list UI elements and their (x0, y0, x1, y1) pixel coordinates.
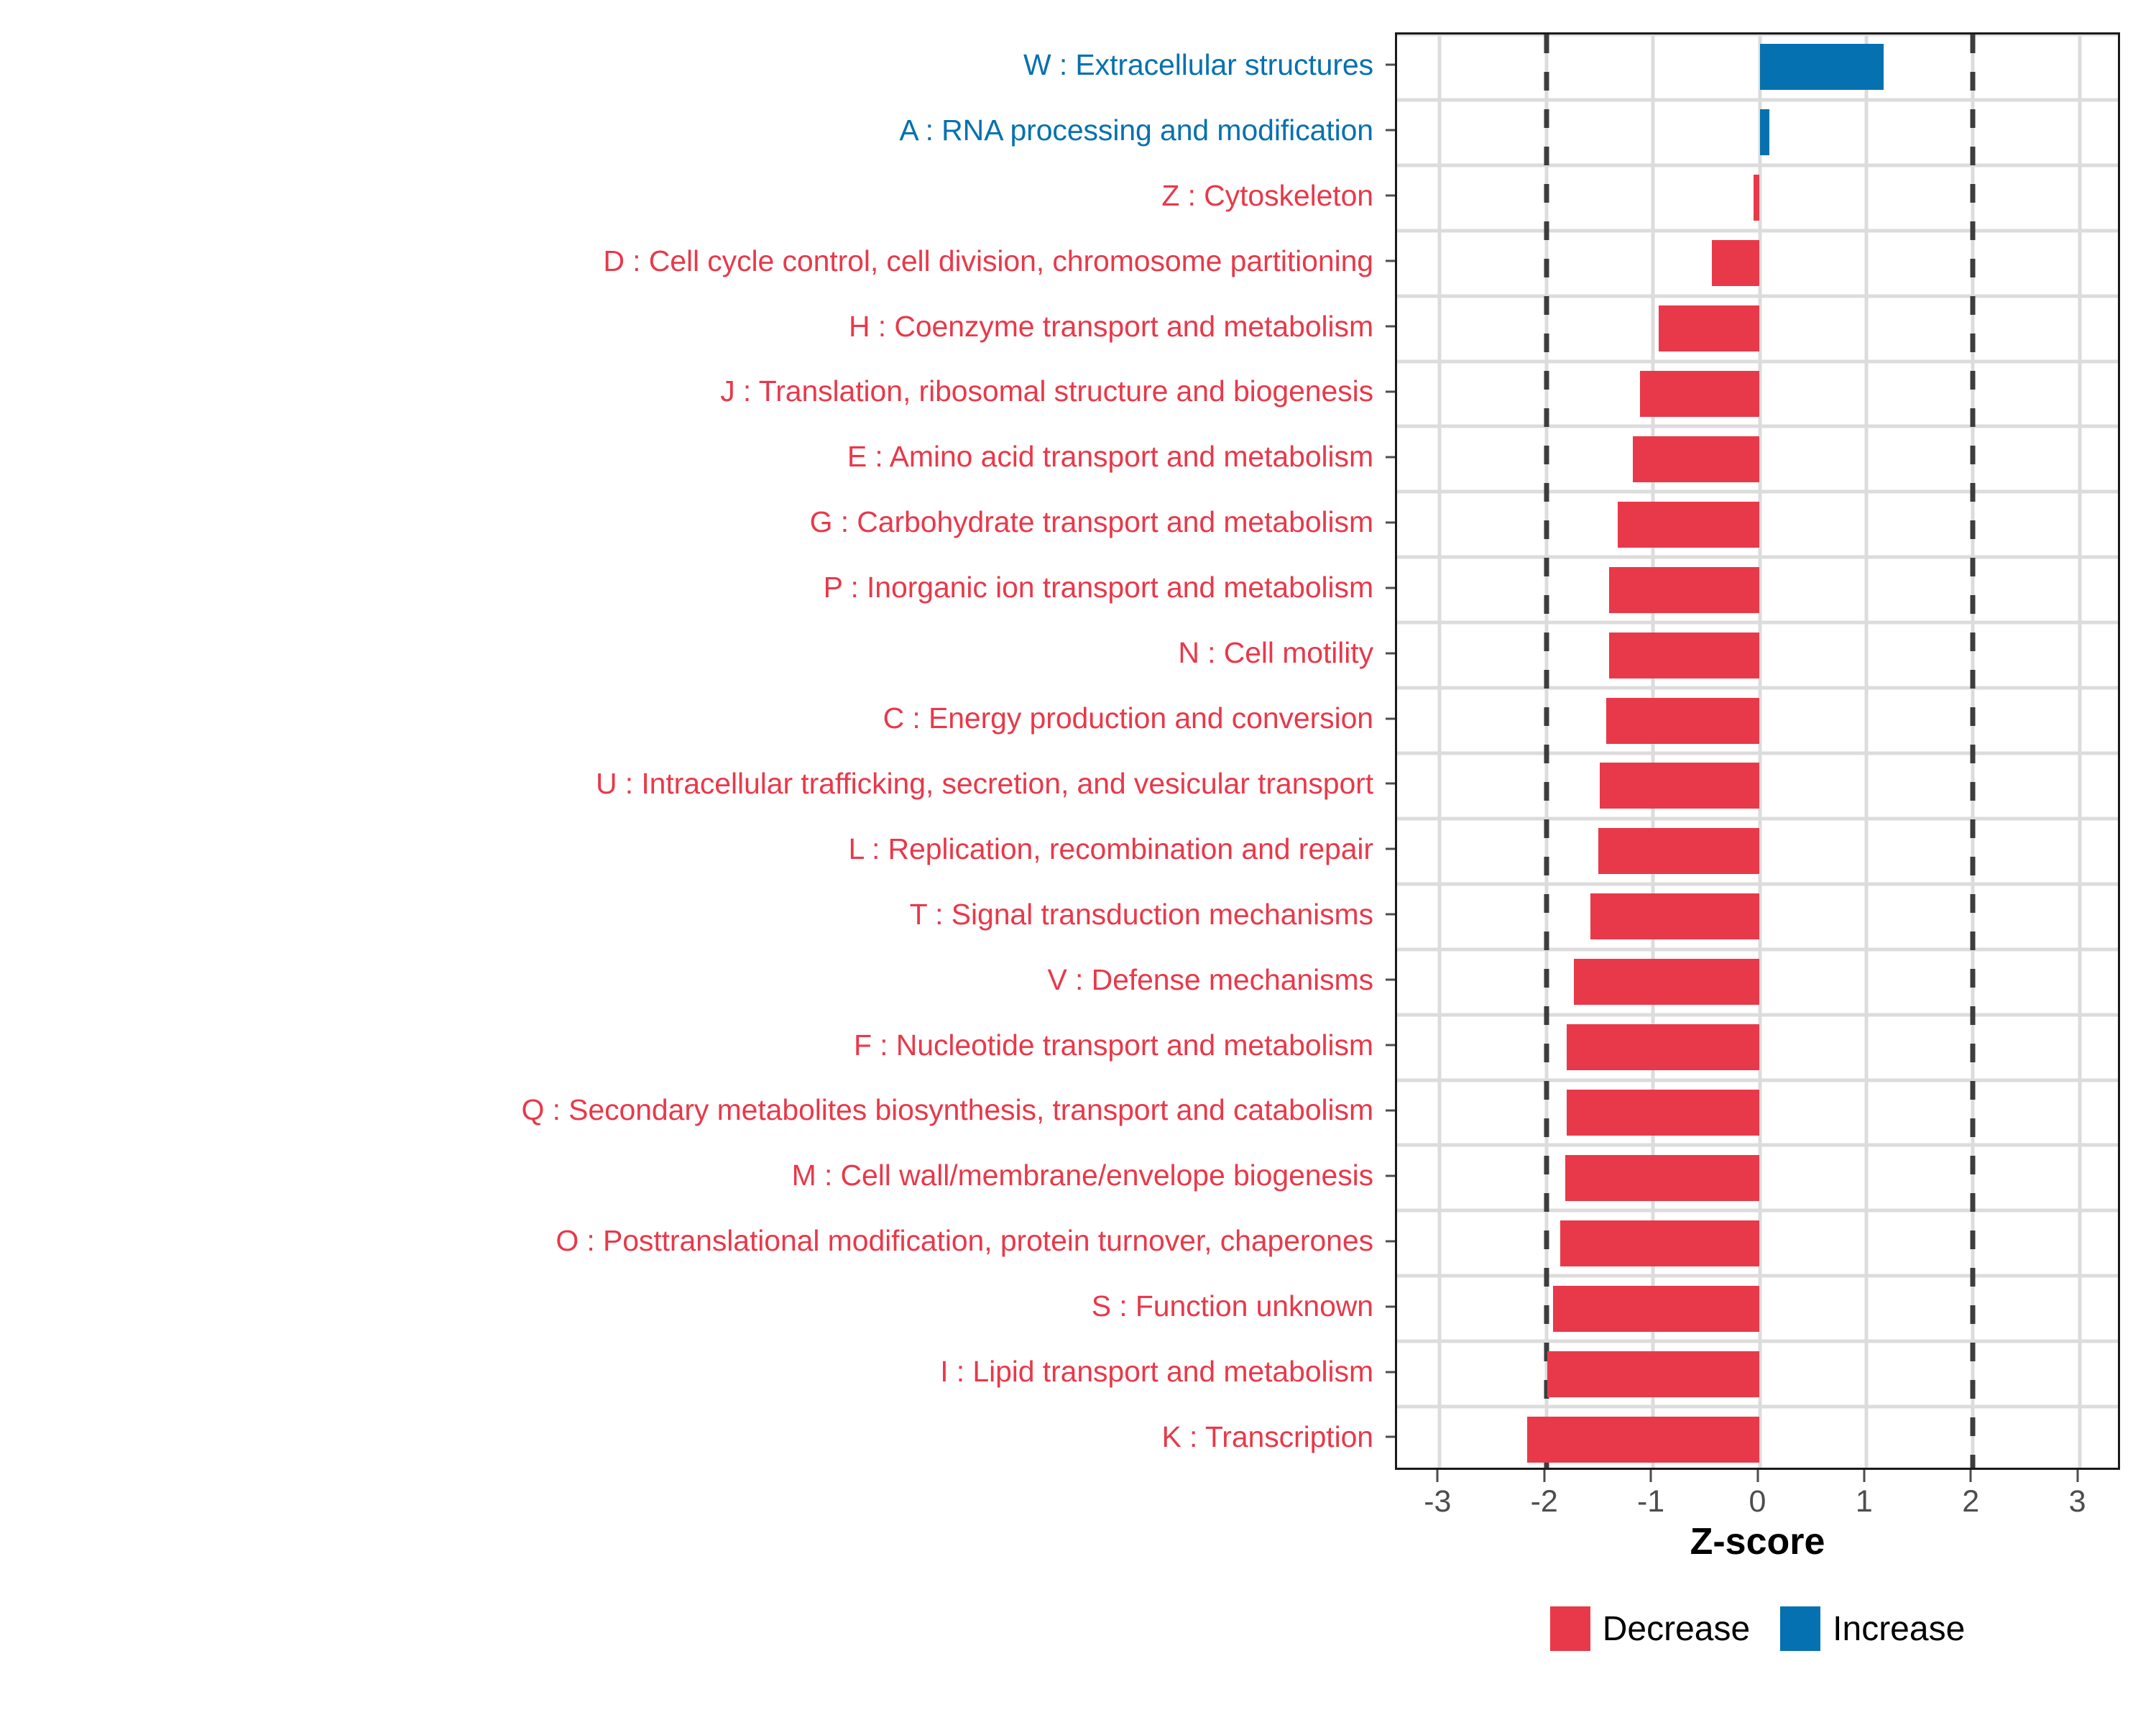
bar[interactable] (1609, 567, 1759, 613)
gridline-horizontal (1397, 1078, 2118, 1082)
category-label: N : Cell motility (0, 620, 1383, 686)
legend-label: Increase (1833, 1609, 1965, 1649)
y-axis-tick (1383, 1013, 1395, 1078)
category-label: W : Extracellular structures (0, 32, 1383, 98)
plot-panel-inner (1397, 34, 2118, 1468)
bar[interactable] (1590, 893, 1760, 939)
gridline-horizontal (1397, 294, 2118, 298)
gridline-horizontal (1397, 1274, 2118, 1278)
bar[interactable] (1640, 371, 1759, 417)
x-axis-tick-label: 2 (1962, 1484, 1979, 1519)
y-axis-tick-column (1383, 32, 1395, 1470)
gridline-horizontal (1397, 425, 2118, 428)
bar[interactable] (1574, 959, 1759, 1005)
category-label: O : Posttranslational modification, prot… (0, 1208, 1383, 1274)
y-axis-tick (1383, 163, 1395, 229)
gridline-horizontal (1397, 490, 2118, 494)
category-label: J : Translation, ribosomal structure and… (0, 359, 1383, 425)
bar[interactable] (1567, 1090, 1760, 1136)
y-axis-tick (1383, 816, 1395, 882)
gridline-horizontal (1397, 98, 2118, 101)
y-axis-tick (1383, 1339, 1395, 1404)
y-axis-tick (1383, 1404, 1395, 1470)
gridline-horizontal (1397, 621, 2118, 625)
gridline-horizontal (1397, 359, 2118, 363)
x-axis-tick (1863, 1470, 1865, 1482)
x-axis-tick-label: -2 (1531, 1484, 1558, 1519)
bar[interactable] (1712, 240, 1760, 286)
category-label: T : Signal transduction mechanisms (0, 882, 1383, 947)
bar[interactable] (1598, 828, 1759, 874)
category-label: C : Energy production and conversion (0, 686, 1383, 751)
bar[interactable] (1633, 436, 1760, 482)
x-axis-tick (1543, 1470, 1545, 1482)
category-label: K : Transcription (0, 1404, 1383, 1470)
legend-item[interactable]: Decrease (1550, 1606, 1750, 1651)
category-label: P : Inorganic ion transport and metaboli… (0, 555, 1383, 620)
y-axis-tick (1383, 947, 1395, 1013)
x-axis-tick (1437, 1470, 1439, 1482)
x-axis-tick-label: 3 (2069, 1484, 2086, 1519)
x-axis-tick (2076, 1470, 2078, 1482)
y-axis-tick (1383, 294, 1395, 359)
bar[interactable] (1553, 1286, 1760, 1332)
gridline-horizontal (1397, 1013, 2118, 1016)
gridline-horizontal (1397, 882, 2118, 885)
bar[interactable] (1606, 698, 1760, 744)
y-axis-tick (1383, 98, 1395, 163)
category-label: L : Replication, recombination and repai… (0, 816, 1383, 882)
category-label: V : Defense mechanisms (0, 947, 1383, 1013)
bar[interactable] (1567, 1024, 1760, 1070)
chart-legend: DecreaseIncrease (1395, 1606, 2120, 1651)
y-axis-tick (1383, 686, 1395, 751)
bar[interactable] (1760, 44, 1884, 90)
category-label: U : Intracellular trafficking, secretion… (0, 751, 1383, 816)
category-label: E : Amino acid transport and metabolism (0, 424, 1383, 489)
bar[interactable] (1600, 763, 1760, 809)
gridline-horizontal (1397, 752, 2118, 755)
legend-item[interactable]: Increase (1780, 1606, 1965, 1651)
x-axis-tick-label: -3 (1424, 1484, 1451, 1519)
gridline-horizontal (1397, 556, 2118, 559)
y-axis-tick (1383, 555, 1395, 620)
gridline-horizontal (1397, 1209, 2118, 1213)
legend-swatch-icon (1550, 1606, 1590, 1651)
x-axis-tick-label: -1 (1637, 1484, 1664, 1519)
bar[interactable] (1609, 632, 1759, 678)
y-axis-tick (1383, 489, 1395, 555)
x-axis-tick-label: 0 (1749, 1484, 1766, 1519)
category-label: A : RNA processing and modification (0, 98, 1383, 163)
y-axis-tick (1383, 882, 1395, 947)
gridline-horizontal (1397, 686, 2118, 690)
y-axis-tick (1383, 229, 1395, 294)
category-label: H : Coenzyme transport and metabolism (0, 294, 1383, 359)
legend-swatch-icon (1780, 1606, 1820, 1651)
category-label-column: W : Extracellular structuresA : RNA proc… (0, 32, 1383, 1470)
bar[interactable] (1618, 502, 1759, 548)
bar[interactable] (1547, 1351, 1759, 1397)
y-axis-tick (1383, 620, 1395, 686)
y-axis-tick (1383, 359, 1395, 425)
threshold-line (1971, 34, 1976, 1468)
y-axis-tick (1383, 1274, 1395, 1339)
bar[interactable] (1565, 1155, 1759, 1201)
bar[interactable] (1754, 175, 1760, 221)
category-label: G : Carbohydrate transport and metabolis… (0, 489, 1383, 555)
bar[interactable] (1560, 1220, 1759, 1266)
category-label: F : Nucleotide transport and metabolism (0, 1013, 1383, 1078)
gridline-horizontal (1397, 163, 2118, 167)
gridline-horizontal (1397, 1340, 2118, 1343)
y-axis-tick (1383, 1208, 1395, 1274)
bar[interactable] (1659, 305, 1760, 351)
threshold-line (1544, 34, 1549, 1468)
x-axis-tick (1970, 1470, 1972, 1482)
gridline-horizontal (1397, 229, 2118, 232)
category-label: M : Cell wall/membrane/envelope biogenes… (0, 1143, 1383, 1208)
gridline-horizontal (1397, 34, 2118, 37)
bar[interactable] (1527, 1417, 1759, 1463)
category-label: Z : Cytoskeleton (0, 163, 1383, 229)
gridline-horizontal (1397, 947, 2118, 951)
y-axis-tick (1383, 32, 1395, 98)
x-axis-tick (1650, 1470, 1652, 1482)
plot-panel (1395, 32, 2120, 1470)
x-axis-title: Z-score (1395, 1520, 2120, 1563)
y-axis-tick (1383, 751, 1395, 816)
y-axis-tick (1383, 1078, 1395, 1144)
bar[interactable] (1760, 109, 1769, 155)
y-axis-tick (1383, 1143, 1395, 1208)
x-axis-tick (1756, 1470, 1759, 1482)
gridline-horizontal (1397, 1405, 2118, 1409)
gridline-horizontal (1397, 816, 2118, 820)
legend-label: Decrease (1603, 1609, 1750, 1649)
y-axis-tick (1383, 424, 1395, 489)
category-label: D : Cell cycle control, cell division, c… (0, 229, 1383, 294)
x-axis-tick-label: 1 (1856, 1484, 1873, 1519)
category-label: S : Function unknown (0, 1274, 1383, 1339)
gridline-horizontal (1397, 1144, 2118, 1147)
chart-root: W : Extracellular structuresA : RNA proc… (0, 0, 2156, 1725)
category-label: Q : Secondary metabolites biosynthesis, … (0, 1078, 1383, 1144)
category-label: I : Lipid transport and metabolism (0, 1339, 1383, 1404)
